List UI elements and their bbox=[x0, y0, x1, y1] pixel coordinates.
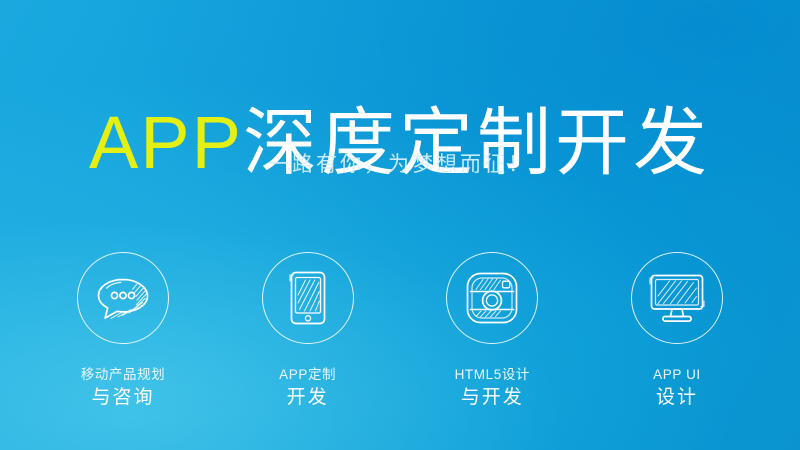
feature-label-bottom: 设计 bbox=[592, 386, 762, 410]
feature-label-bottom: 开发 bbox=[223, 386, 393, 410]
feature-label-bottom: 与开发 bbox=[407, 386, 577, 410]
desktop-monitor-icon bbox=[646, 271, 708, 325]
feature-label-top: APP定制 bbox=[223, 366, 393, 383]
feature-label-app-development: APP定制 开发 bbox=[223, 366, 393, 411]
icon-circle-app-development bbox=[262, 252, 354, 344]
feature-label-ui-design: APP UI 设计 bbox=[592, 366, 762, 411]
feature-label-top: 移动产品规划 bbox=[38, 366, 208, 383]
feature-label-bottom: 与咨询 bbox=[38, 386, 208, 410]
camera-icon bbox=[463, 269, 521, 327]
tablet-device-icon bbox=[284, 268, 332, 328]
feature-item-ui-design[interactable]: APP UI 设计 bbox=[592, 252, 762, 411]
headline-container: APP深度定制开发 bbox=[0, 56, 800, 229]
feature-item-html5[interactable]: HTML5设计 与开发 bbox=[407, 252, 577, 411]
promo-banner: APP深度定制开发 一路有你，为梦想而征！ bbox=[0, 0, 800, 450]
icon-circle-html5 bbox=[446, 252, 538, 344]
feature-label-top: APP UI bbox=[592, 366, 762, 383]
subtitle: 一路有你，为梦想而征！ bbox=[0, 148, 800, 178]
speech-bubble-icon bbox=[93, 272, 153, 324]
icon-circle-ui-design bbox=[631, 252, 723, 344]
icon-circle-consulting bbox=[77, 252, 169, 344]
feature-label-consulting: 移动产品规划 与咨询 bbox=[38, 366, 208, 411]
feature-item-consulting[interactable]: 移动产品规划 与咨询 bbox=[38, 252, 208, 411]
feature-label-html5: HTML5设计 与开发 bbox=[407, 366, 577, 411]
feature-label-top: HTML5设计 bbox=[407, 366, 577, 383]
feature-item-app-development[interactable]: APP定制 开发 bbox=[223, 252, 393, 411]
feature-list: 移动产品规划 与咨询 bbox=[0, 252, 800, 411]
